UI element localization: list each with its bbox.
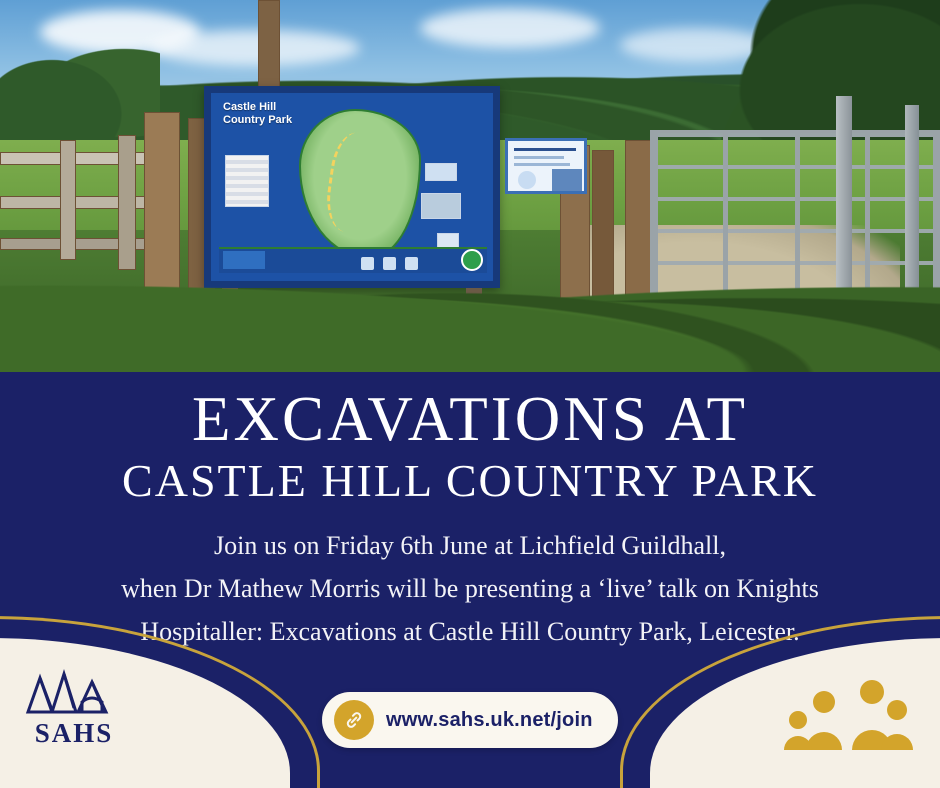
body-line-2: when Dr Mathew Morris will be presenting… [0,567,940,610]
board-text-block [425,163,457,181]
secondary-sign [505,138,587,194]
board-title-line1: Castle Hill [223,101,276,113]
text-panel: EXCAVATIONS AT CASTLE HILL COUNTRY PARK … [0,372,940,788]
fence-post [118,135,136,270]
fence-post [60,140,76,260]
foreground-vegetation [0,262,940,372]
sign-line [514,148,576,151]
sign-circle [518,171,536,189]
header-photo: Castle Hill Country Park [0,0,940,372]
board-title: Castle Hill Country Park [223,101,292,127]
sign-box [552,169,582,191]
link-icon-glyph [343,709,365,731]
poster-title-line1: EXCAVATIONS AT [0,386,940,452]
sign-line [514,163,570,166]
board-text-block [421,193,461,219]
poster-title-line2: CASTLE HILL COUNTRY PARK [0,456,940,506]
board-text-block [225,155,269,207]
website-link-pill[interactable]: www.sahs.uk.net/join [322,692,618,748]
people-group-icon-glyph [784,676,914,752]
sahs-monogram-icon [22,664,126,716]
information-board: Castle Hill Country Park [204,86,500,288]
link-icon [334,700,374,740]
board-title-line2: Country Park [223,114,292,126]
body-line-1: Join us on Friday 6th June at Lichfield … [0,524,940,567]
sahs-logo: SAHS [18,664,130,754]
poster: Castle Hill Country Park [0,0,940,788]
website-url-label: www.sahs.uk.net/join [386,709,593,732]
sign-line [514,156,564,159]
people-group-icon [784,676,914,752]
sahs-logo-text: SAHS [18,718,130,749]
